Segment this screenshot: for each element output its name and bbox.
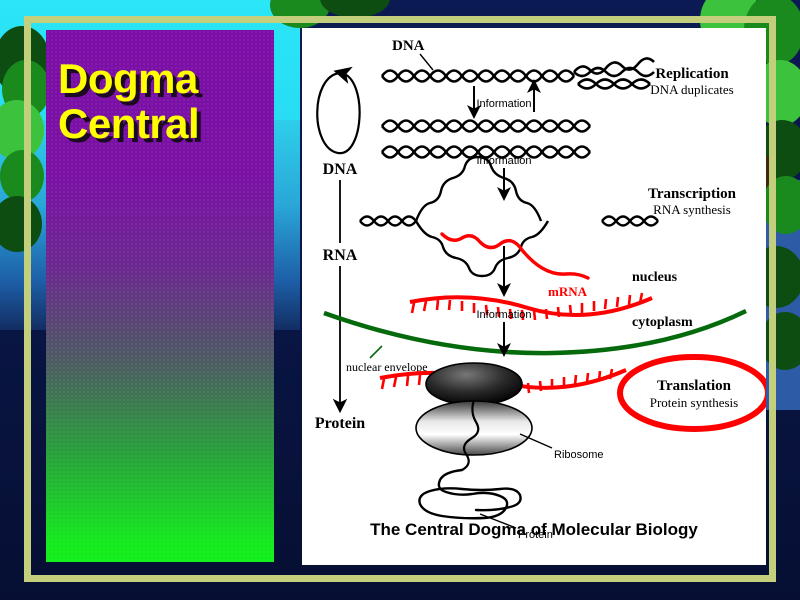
ribosome — [416, 363, 532, 455]
transcription-bubble — [360, 157, 658, 276]
diagram-panel: DNA RNA Protein DNA — [302, 28, 766, 565]
dna-strand-daughter-1 — [382, 121, 590, 132]
dna-label-leader — [420, 54, 433, 70]
flow-label-rna: RNA — [323, 247, 358, 264]
information-label-1: Information — [476, 98, 531, 110]
presentation-slide: Dogma Central — [0, 0, 800, 600]
dna-strand-parental — [382, 71, 574, 82]
compartment-label-cytoplasm: cytoplasm — [632, 315, 693, 330]
diagram-caption: The Central Dogma of Molecular Biology — [370, 520, 698, 539]
background-foliage — [0, 150, 44, 202]
page-title: Dogma Central — [58, 56, 268, 147]
nuclear-envelope-leader — [370, 346, 382, 358]
process-subtitle-translation: Protein synthesis — [650, 395, 738, 410]
flow-axis: DNA RNA Protein — [315, 73, 365, 432]
information-label-3: Information — [476, 309, 531, 321]
title-line-2: Central — [58, 101, 268, 146]
process-transcription: Transcription RNA synthesis — [648, 186, 737, 217]
title-panel: Dogma Central — [46, 30, 274, 562]
dna-molecule-label: DNA — [392, 38, 425, 54]
ribosome-label: Ribosome — [554, 449, 604, 461]
dna-replication-fork — [574, 58, 654, 88]
dna-replication-loop-arrow — [317, 73, 359, 153]
central-dogma-diagram: DNA RNA Protein DNA — [302, 28, 766, 565]
process-name-translation: Translation — [657, 378, 732, 394]
process-name-transcription: Transcription — [648, 186, 737, 202]
compartment-label-nucleus: nucleus — [632, 270, 678, 285]
process-translation: Translation Protein synthesis — [620, 357, 766, 429]
title-line-1: Dogma — [58, 56, 268, 101]
process-subtitle-replication: DNA duplicates — [650, 82, 733, 97]
process-name-replication: Replication — [655, 66, 729, 82]
mrna-label: mRNA — [548, 284, 588, 299]
flow-label-protein: Protein — [315, 415, 365, 432]
information-label-2: Information — [476, 155, 531, 167]
ribosome-large-subunit — [426, 363, 522, 405]
process-replication: Replication DNA duplicates — [650, 66, 733, 97]
ribosome-small-subunit — [416, 401, 532, 455]
process-subtitle-transcription: RNA synthesis — [653, 202, 731, 217]
flow-label-dna: DNA — [323, 161, 358, 178]
folded-protein — [419, 470, 520, 518]
